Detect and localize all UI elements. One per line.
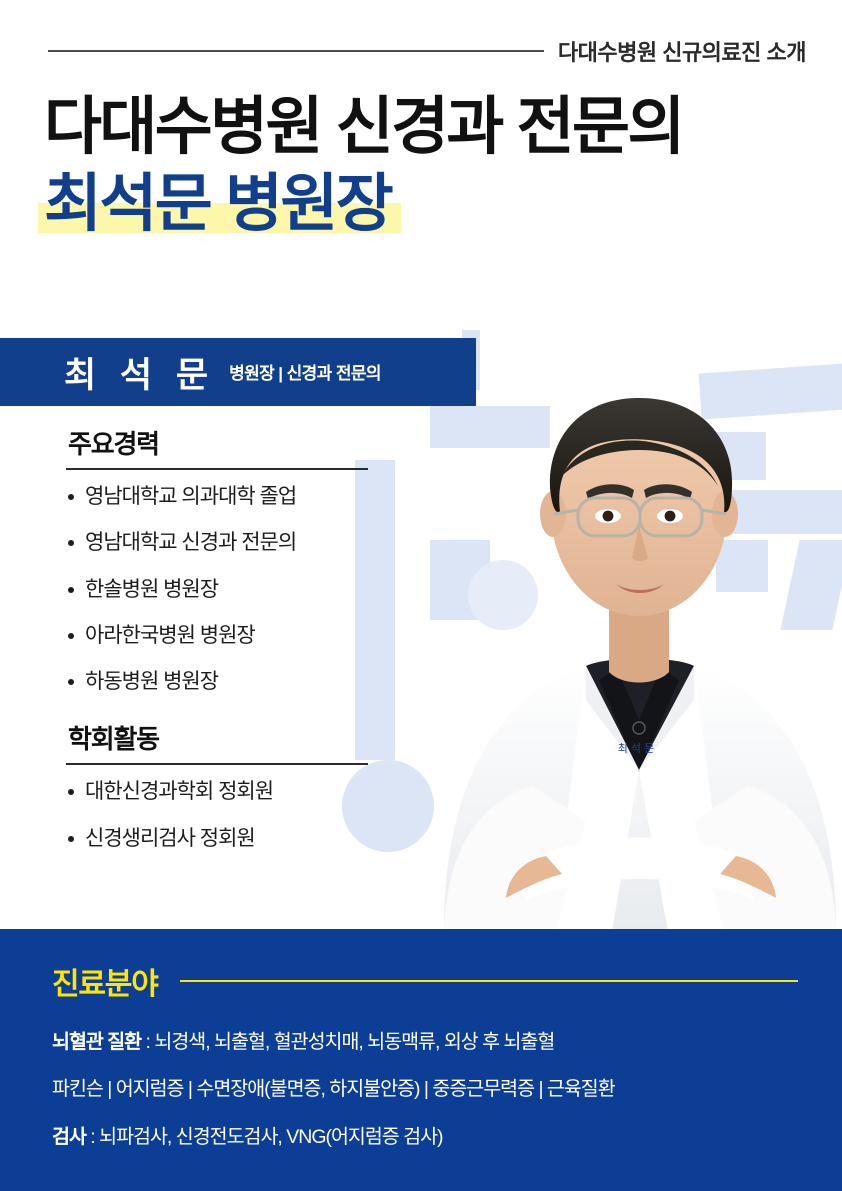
list-item: 대한신경과학회 정회원: [66, 779, 396, 805]
name-banner: 최 석 문 병원장 | 신경과 전문의: [0, 338, 476, 406]
academic-list: 대한신경과학회 정회원 신경생리검사 정회원: [66, 779, 396, 852]
specialty-line-text: 뇌파검사, 신경전도검사, VNG(어지럼증 검사): [99, 1126, 442, 1148]
specialty-line: 뇌혈관 질환 : 뇌경색, 뇌출혈, 혈관성치매, 뇌동맥류, 외상 후 뇌출혈: [52, 1031, 798, 1054]
list-item: 아라한국병원 병원장: [66, 623, 396, 649]
specialty-line-text: 파킨슨 | 어지럼증 | 수면장애(불면증, 하지불안증) | 중증근무력증 |…: [52, 1078, 615, 1100]
section-academic-title: 학회활동: [68, 719, 396, 756]
specialty-line-sep: :: [86, 1126, 99, 1148]
specialty-line-label: 뇌혈관 질환: [52, 1031, 141, 1053]
headline-line-2-wrap: 최석문 병원장: [44, 169, 391, 240]
list-item: 한솔병원 병원장: [66, 577, 396, 603]
section-academic: 학회활동 대한신경과학회 정회원 신경생리검사 정회원: [66, 719, 396, 852]
specialty-header: 진료분야: [52, 959, 798, 1003]
specialty-line-text: 뇌경색, 뇌출혈, 혈관성치매, 뇌동맥류, 외상 후 뇌출혈: [154, 1031, 554, 1053]
eyebrow-label: 다대수병원 신규의료진 소개: [558, 35, 806, 67]
headline-line-1: 다대수병원 신경과 전문의: [44, 92, 744, 163]
specialty-divider: [180, 980, 798, 982]
portrait-illustration: 최 석 문: [436, 300, 842, 932]
section-career-title: 주요경력: [68, 424, 396, 461]
specialty-line-label: 검사: [52, 1126, 86, 1148]
info-sections: 주요경력 영남대학교 의과대학 졸업 영남대학교 신경과 전문의 한솔병원 병원…: [66, 424, 396, 852]
career-list: 영남대학교 의과대학 졸업 영남대학교 신경과 전문의 한솔병원 병원장 아라한…: [66, 484, 396, 695]
section-academic-divider: [66, 763, 368, 765]
headline-line-2: 최석문 병원장: [44, 169, 391, 239]
list-item: 신경생리검사 정회원: [66, 826, 396, 852]
doctor-role: 병원장 | 신경과 전문의: [229, 359, 381, 386]
specialty-line: 파킨슨 | 어지럼증 | 수면장애(불면증, 하지불안증) | 중증근무력증 |…: [52, 1078, 798, 1101]
coat-embroidery: 최 석 문: [618, 742, 654, 755]
doctor-name: 최 석 문: [64, 347, 215, 398]
poster-root: 다대수병원 신규의료진 소개 다대수병원 신경과 전문의 최석문 병원장: [0, 0, 842, 1191]
section-career-divider: [66, 468, 368, 470]
doctor-portrait: 최 석 문: [436, 300, 842, 932]
list-item: 영남대학교 의과대학 졸업: [66, 484, 396, 510]
list-item: 하동병원 병원장: [66, 669, 396, 695]
section-career: 주요경력 영남대학교 의과대학 졸업 영남대학교 신경과 전문의 한솔병원 병원…: [66, 424, 396, 695]
specialty-line: 검사 : 뇌파검사, 신경전도검사, VNG(어지럼증 검사): [52, 1126, 798, 1149]
headline-block: 다대수병원 신경과 전문의 최석문 병원장: [44, 92, 744, 239]
list-item: 영남대학교 신경과 전문의: [66, 530, 396, 556]
specialty-panel: 진료분야 뇌혈관 질환 : 뇌경색, 뇌출혈, 혈관성치매, 뇌동맥류, 외상 …: [0, 929, 842, 1191]
eyebrow-divider: [48, 50, 544, 52]
specialty-line-sep: :: [141, 1031, 154, 1053]
specialty-lines: 뇌혈관 질환 : 뇌경색, 뇌출혈, 혈관성치매, 뇌동맥류, 외상 후 뇌출혈…: [52, 1031, 798, 1149]
header-eyebrow: 다대수병원 신규의료진 소개: [48, 36, 806, 66]
specialty-title: 진료분야: [52, 959, 158, 1003]
